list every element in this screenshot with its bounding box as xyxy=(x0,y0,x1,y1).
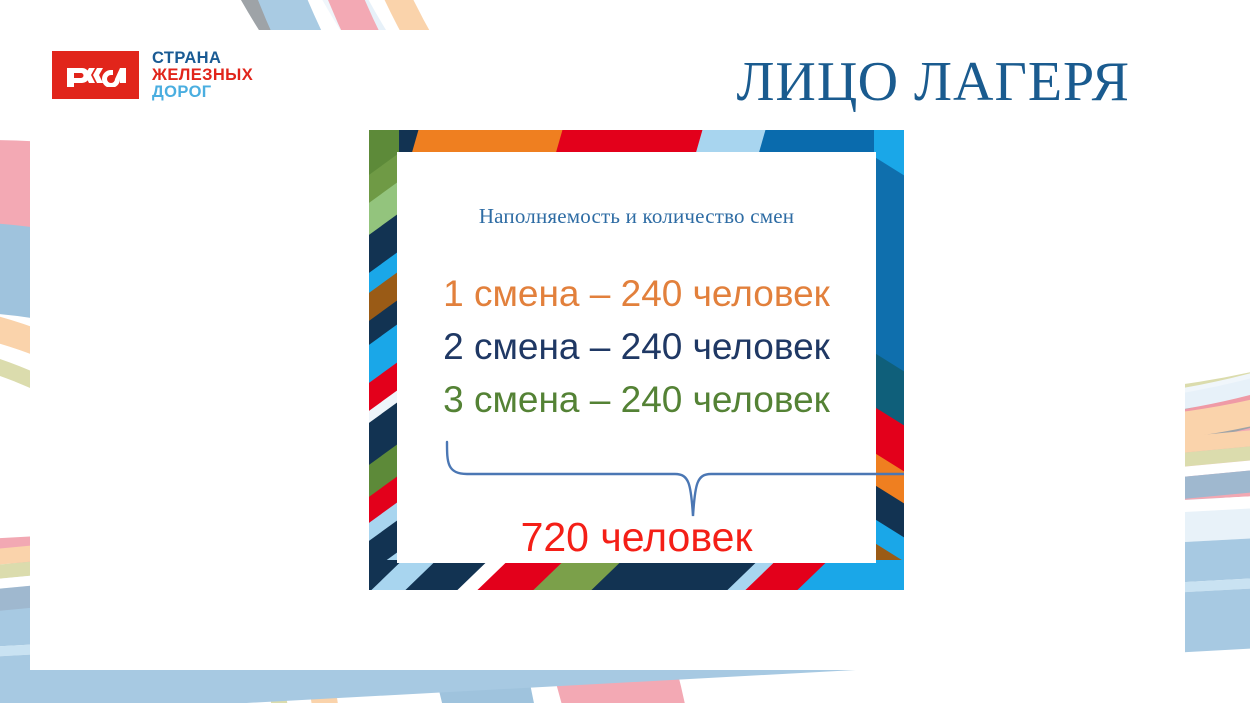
total-people: 720 человек xyxy=(397,514,876,561)
frame-stripe xyxy=(759,130,891,154)
frame-edge-left xyxy=(369,130,399,590)
frame-edge-bottom xyxy=(369,560,904,590)
frame-edge-top xyxy=(369,130,904,154)
rzd-logo-wordmark: СТРАНА ЖЕЛЕЗНЫХ ДОРОГ xyxy=(152,50,253,101)
shift-line: 2 смена – 240 человек xyxy=(397,320,876,373)
shift-list: 1 смена – 240 человек 2 смена – 240 чело… xyxy=(397,267,876,426)
rzd-logo-mark xyxy=(52,51,139,99)
frame-stripe xyxy=(874,149,904,383)
card-striped-frame: Наполняемость и количество смен 1 смена … xyxy=(369,130,904,590)
rzd-logo-lockup: СТРАНА ЖЕЛЕЗНЫХ ДОРОГ xyxy=(52,50,253,101)
stats-card: Наполняемость и количество смен 1 смена … xyxy=(369,130,904,590)
logo-line-2: ЖЕЛЕЗНЫХ xyxy=(152,67,253,84)
curly-brace xyxy=(443,440,904,520)
shift-line: 3 смена – 240 человек xyxy=(397,373,876,426)
frame-stripe xyxy=(412,130,569,154)
card-heading: Наполняемость и количество смен xyxy=(397,204,876,229)
frame-edge-right xyxy=(874,130,904,590)
logo-line-3: ДОРОГ xyxy=(152,84,253,101)
logo-line-1: СТРАНА xyxy=(152,50,253,67)
card-inner-white: Наполняемость и количество смен 1 смена … xyxy=(397,152,876,563)
frame-stripe xyxy=(556,130,708,154)
slide-canvas: СТРАНА ЖЕЛЕЗНЫХ ДОРОГ ЛИЦО ЛАГЕРЯ xyxy=(0,0,1250,703)
page-title: ЛИЦО ЛАГЕРЯ xyxy=(736,50,1130,114)
content-panel: СТРАНА ЖЕЛЕЗНЫХ ДОРОГ ЛИЦО ЛАГЕРЯ xyxy=(30,30,1185,670)
shift-line: 1 смена – 240 человек xyxy=(397,267,876,320)
